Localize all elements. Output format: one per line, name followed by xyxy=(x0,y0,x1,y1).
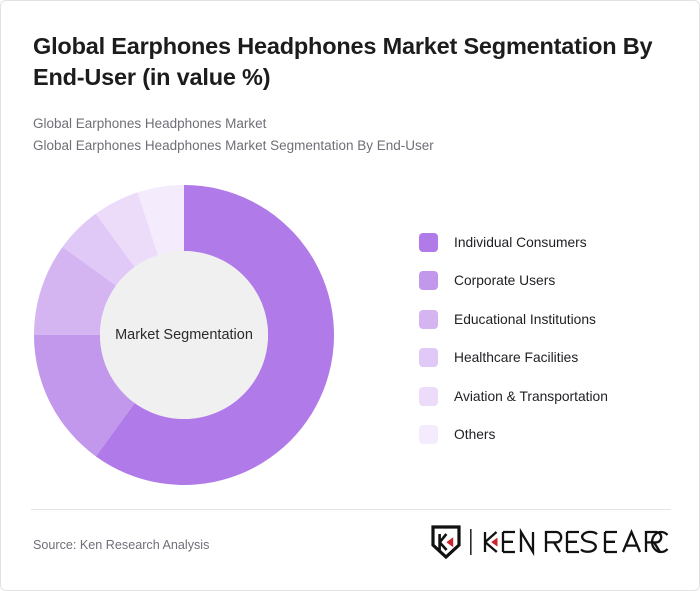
legend-item-label: Others xyxy=(454,427,495,442)
chart-card: Global Earphones Headphones Market Segme… xyxy=(0,0,700,591)
color-swatch-icon xyxy=(419,310,438,329)
logo-wordmark-icon xyxy=(481,528,671,556)
legend-item[interactable]: Educational Institutions xyxy=(419,300,681,339)
color-swatch-icon xyxy=(419,233,438,252)
subtitle-line-2: Global Earphones Headphones Market Segme… xyxy=(33,135,673,157)
color-swatch-icon xyxy=(419,348,438,367)
logo-divider-icon xyxy=(464,527,478,557)
donut-chart: Market Segmentation xyxy=(29,179,339,491)
legend-item-label: Educational Institutions xyxy=(454,312,596,327)
legend-item[interactable]: Aviation & Transportation xyxy=(419,377,681,416)
chart-legend: Individual ConsumersCorporate UsersEduca… xyxy=(419,223,681,454)
shield-logo-icon xyxy=(431,525,461,559)
footer-divider xyxy=(31,509,671,510)
subtitle-block: Global Earphones Headphones Market Globa… xyxy=(33,113,673,157)
legend-item[interactable]: Corporate Users xyxy=(419,262,681,301)
color-swatch-icon xyxy=(419,387,438,406)
color-swatch-icon xyxy=(419,425,438,444)
legend-item-label: Aviation & Transportation xyxy=(454,389,608,404)
legend-item[interactable]: Healthcare Facilities xyxy=(419,339,681,378)
legend-item-label: Healthcare Facilities xyxy=(454,350,578,365)
legend-item-label: Individual Consumers xyxy=(454,235,587,250)
subtitle-line-1: Global Earphones Headphones Market xyxy=(33,113,673,135)
ken-research-logo xyxy=(431,525,671,559)
legend-item-label: Corporate Users xyxy=(454,273,555,288)
chart-card-inner: Global Earphones Headphones Market Segme… xyxy=(1,1,700,591)
color-swatch-icon xyxy=(419,271,438,290)
donut-hole xyxy=(100,251,268,419)
legend-item[interactable]: Others xyxy=(419,416,681,455)
legend-item[interactable]: Individual Consumers xyxy=(419,223,681,262)
page-title: Global Earphones Headphones Market Segme… xyxy=(33,31,673,93)
donut-chart-svg xyxy=(29,179,339,491)
source-note: Source: Ken Research Analysis xyxy=(33,538,209,552)
